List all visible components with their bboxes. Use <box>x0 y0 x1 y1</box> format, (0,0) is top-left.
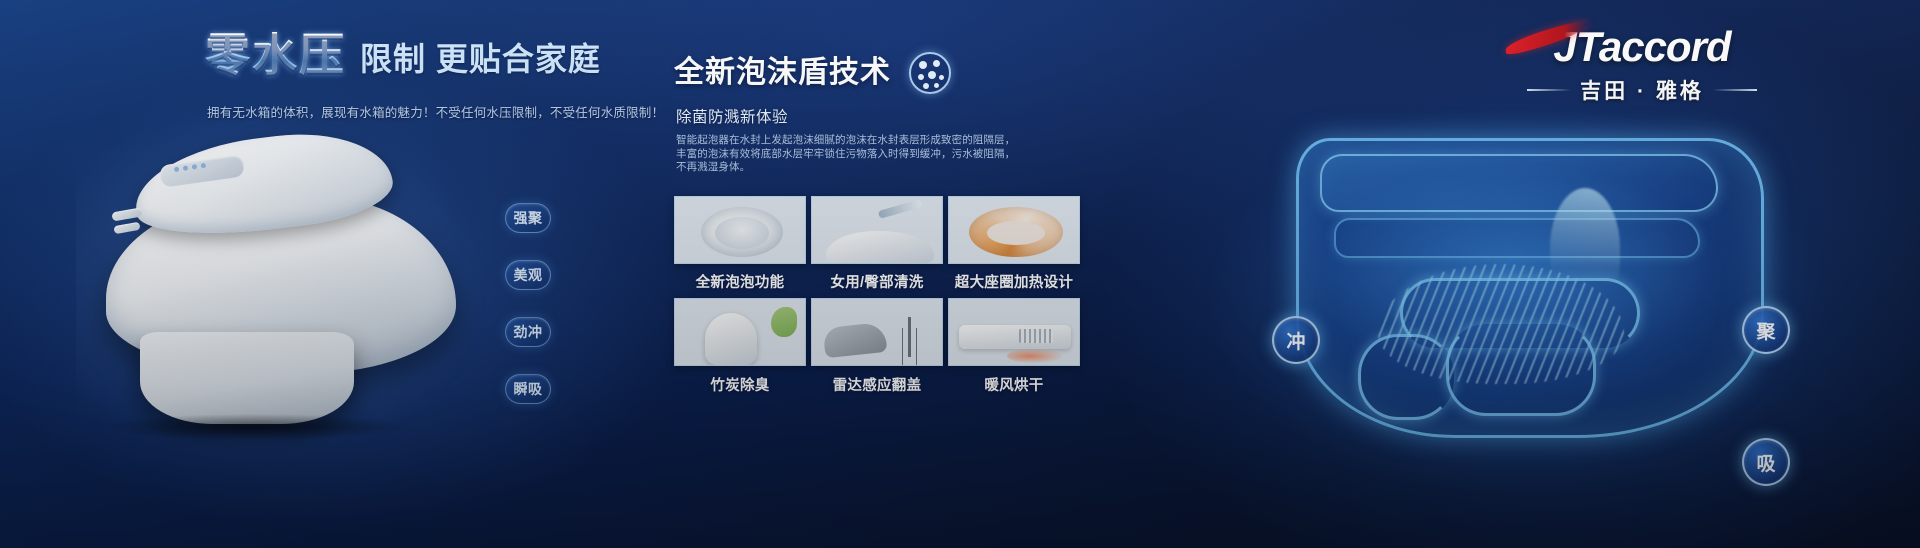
bamboo-charcoal-icon <box>674 298 806 366</box>
feature-card[interactable]: 全新泡泡功能 <box>674 196 806 292</box>
feature-pill-list: 强聚 美观 劲冲 瞬吸 <box>505 203 551 404</box>
feature-card-caption: 女用/臀部清洗 <box>811 264 943 292</box>
paragraph-line-2: 丰富的泡沫有效将底部水层牢牢锁住污物落入时得到缓冲，污水被阻隔， <box>676 148 1020 162</box>
middle-paragraph: 智能起泡器在水封上发起泡沫细腻的泡沫在水封表层形成致密的阻隔层， 丰富的泡沫有效… <box>676 134 1020 175</box>
middle-title: 全新泡沫盾技术 <box>674 58 891 88</box>
pill-instant-suck[interactable]: 瞬吸 <box>505 374 551 404</box>
feature-card[interactable]: 超大座圈加热设计 <box>948 196 1080 292</box>
feature-card-caption: 全新泡泡功能 <box>674 264 806 292</box>
foam-bubbles-icon <box>909 52 951 94</box>
toilet-base <box>140 332 354 424</box>
brand-logo[interactable]: JTaccord 吉田 · 雅格 <box>1492 26 1792 105</box>
headline-sub: 限制 更贴合家庭 <box>360 43 601 78</box>
feature-card[interactable]: 暖风烘干 <box>948 298 1080 395</box>
warm-air-dryer-icon <box>948 298 1080 366</box>
pill-strong-flush[interactable]: 劲冲 <box>505 317 551 347</box>
middle-heading: 全新泡沫盾技术 <box>674 52 951 94</box>
heated-seat-ring-icon <box>948 196 1080 264</box>
headline-main: 零水压 <box>205 32 346 78</box>
side-button-bottom-icon <box>114 222 141 234</box>
middle-subtitle: 除菌防溅新体验 <box>676 105 788 127</box>
dial-flush[interactable]: 冲 <box>1272 316 1320 364</box>
logo-rule-left <box>1527 89 1571 91</box>
dial-suck[interactable]: 吸 <box>1742 438 1790 486</box>
paragraph-line-3: 不再溅湿身体。 <box>676 161 1020 175</box>
feature-card-caption: 竹炭除臭 <box>674 366 806 395</box>
right-section: JTaccord 吉田 · 雅格 冲 聚 吸 <box>1120 0 1920 548</box>
feature-card[interactable]: 雷达感应翻盖 <box>811 298 943 395</box>
side-button-top-icon <box>111 207 142 221</box>
vent-grille-icon <box>1019 329 1053 343</box>
headline: 零水压 限制 更贴合家庭 <box>205 32 601 78</box>
paragraph-line-1: 智能起泡器在水封上发起泡沫细腻的泡沫在水封表层形成致密的阻隔层， <box>676 134 1020 148</box>
feature-card-grid: 全新泡泡功能 女用/臀部清洗 超大座圈加热设计 竹炭除臭 雷达感应翻盖 暖风烘干 <box>674 196 1080 395</box>
diagram-lid-outline <box>1320 154 1718 212</box>
radar-sensor-lid-icon <box>811 298 943 366</box>
headline-description: 拥有无水箱的体积，展现有水箱的魅力！不受任何水压限制，不受任何水质限制！ <box>207 102 664 121</box>
spray-nozzle-icon <box>811 196 943 264</box>
logo-rule-right <box>1713 89 1757 91</box>
diagram-pipe-trap <box>1358 334 1454 420</box>
xray-toilet-diagram: 冲 聚 吸 <box>1250 128 1810 458</box>
toilet-bowl-foam-icon <box>674 196 806 264</box>
product-banner: 零水压 限制 更贴合家庭 拥有无水箱的体积，展现有水箱的魅力！不受任何水压限制，… <box>0 0 1920 548</box>
product-shadow <box>106 414 406 440</box>
feature-card-caption: 超大座圈加热设计 <box>948 264 1080 292</box>
toilet-icon <box>96 132 466 447</box>
middle-section: 全新泡沫盾技术 除菌防溅新体验 智能起泡器在水封上发起泡沫细腻的泡沫在水封表层形… <box>660 0 1100 548</box>
feature-card-caption: 暖风烘干 <box>948 366 1080 395</box>
diagram-pipe-lower <box>1446 324 1596 416</box>
diagram-seat-outline <box>1334 218 1700 258</box>
pill-aesthetic[interactable]: 美观 <box>505 260 551 290</box>
pill-strong-gather[interactable]: 强聚 <box>505 203 551 233</box>
dial-gather[interactable]: 聚 <box>1742 306 1790 354</box>
brand-name-chinese: 吉田 · 雅格 <box>1580 75 1704 105</box>
left-section: 零水压 限制 更贴合家庭 拥有无水箱的体积，展现有水箱的魅力！不受任何水压限制，… <box>0 0 640 548</box>
feature-card-caption: 雷达感应翻盖 <box>811 366 943 395</box>
feature-card[interactable]: 女用/臀部清洗 <box>811 196 943 292</box>
feature-card[interactable]: 竹炭除臭 <box>674 298 806 395</box>
brand-chinese-row: 吉田 · 雅格 <box>1492 75 1792 105</box>
